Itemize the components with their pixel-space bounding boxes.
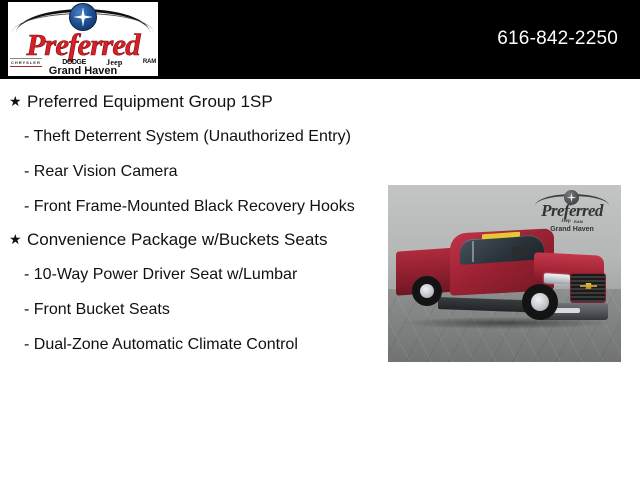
truck-illustration: [394, 221, 609, 333]
logo-location-label: Grand Haven: [8, 65, 158, 76]
feature-item: - Dual-Zone Automatic Climate Control: [0, 320, 378, 355]
star-bullet-icon: ★: [9, 229, 22, 250]
feature-group-heading-label: Preferred Equipment Group 1SP: [27, 92, 273, 111]
star-bullet-icon: ★: [9, 91, 22, 112]
photo-watermark: Preferred Jeep RAM Grand Haven: [529, 190, 615, 234]
truck-rear-wheel: [412, 276, 442, 306]
truck-headlight: [544, 273, 570, 285]
feature-group: ★ Preferred Equipment Group 1SP - Theft …: [0, 79, 378, 217]
feature-item: - Rear Vision Camera: [0, 147, 378, 182]
feature-group-heading: ★ Convenience Package w/Buckets Seats: [0, 217, 378, 250]
feature-item: - Front Frame-Mounted Black Recovery Hoo…: [0, 182, 378, 217]
feature-item: - Theft Deterrent System (Unauthorized E…: [0, 112, 378, 147]
truck-side-mirror: [512, 247, 526, 256]
vehicle-feature-list: ★ Preferred Equipment Group 1SP - Theft …: [0, 79, 378, 355]
dealer-logo[interactable]: Preferred CHRYSLER DODGE Jeep RAM Grand …: [8, 2, 158, 76]
vehicle-photo[interactable]: Preferred Jeep RAM Grand Haven: [388, 185, 621, 362]
watermark-star-emblem-icon: [564, 190, 579, 205]
logo-wordmark: Preferred: [8, 29, 158, 60]
feature-group-heading: ★ Preferred Equipment Group 1SP: [0, 79, 378, 112]
watermark-location-label: Grand Haven: [529, 225, 615, 234]
dealer-header-bar: Preferred CHRYSLER DODGE Jeep RAM Grand …: [0, 0, 640, 79]
feature-item: - 10-Way Power Driver Seat w/Lumbar: [0, 250, 378, 285]
feature-group-heading-label: Convenience Package w/Buckets Seats: [27, 230, 328, 249]
feature-item: - Front Bucket Seats: [0, 285, 378, 320]
watermark-swoosh-graphic: [529, 190, 615, 202]
dealer-phone-number[interactable]: 616-842-2250: [497, 28, 618, 50]
truck-front-wheel: [522, 284, 558, 320]
feature-group: ★ Convenience Package w/Buckets Seats - …: [0, 217, 378, 355]
